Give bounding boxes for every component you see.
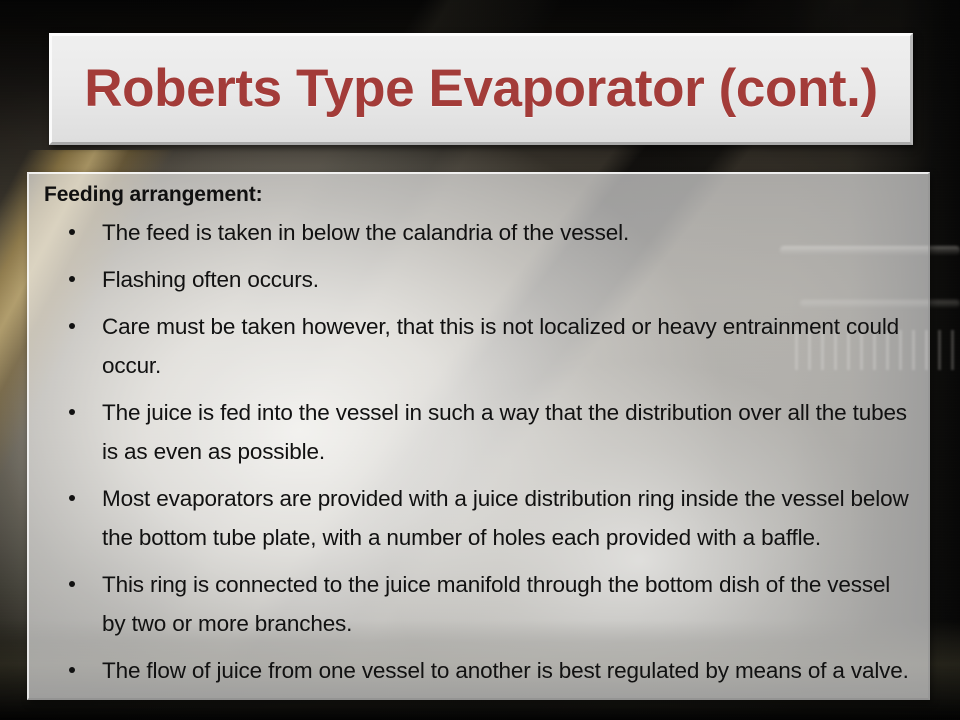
slide-title-box: Roberts Type Evaporator (cont.) bbox=[49, 33, 913, 145]
list-item: The flow of juice from one vessel to ano… bbox=[36, 651, 918, 698]
content-lead-label: Feeding arrangement: bbox=[44, 183, 918, 207]
list-item-text: The feed is taken in below the calandria… bbox=[102, 220, 629, 245]
list-item-text: The flow of juice from one vessel to ano… bbox=[102, 658, 909, 683]
slide-content-box: Feeding arrangement: The feed is taken i… bbox=[27, 172, 930, 700]
presentation-slide: Roberts Type Evaporator (cont.) Feeding … bbox=[0, 0, 960, 720]
list-item-text: Flashing often occurs. bbox=[102, 267, 319, 292]
bullet-icon bbox=[69, 667, 75, 673]
list-item: This ring is connected to the juice mani… bbox=[36, 565, 918, 651]
list-item: The feed is taken in below the calandria… bbox=[36, 213, 918, 260]
list-item: Care must be taken however, that this is… bbox=[36, 307, 918, 393]
list-item-text: Care must be taken however, that this is… bbox=[102, 314, 899, 378]
list-item-text: This ring is connected to the juice mani… bbox=[102, 572, 890, 636]
bullet-list: The feed is taken in below the calandria… bbox=[36, 213, 918, 698]
list-item-text: The juice is fed into the vessel in such… bbox=[102, 400, 907, 464]
slide-title: Roberts Type Evaporator (cont.) bbox=[84, 61, 878, 117]
bullet-icon bbox=[69, 409, 75, 415]
bullet-icon bbox=[69, 229, 75, 235]
list-item: Flashing often occurs. bbox=[36, 260, 918, 307]
list-item: The juice is fed into the vessel in such… bbox=[36, 393, 918, 479]
bullet-icon bbox=[69, 495, 75, 501]
bullet-icon bbox=[69, 581, 75, 587]
bullet-icon bbox=[69, 323, 75, 329]
list-item-text: Most evaporators are provided with a jui… bbox=[102, 486, 909, 550]
bullet-icon bbox=[69, 276, 75, 282]
list-item: Most evaporators are provided with a jui… bbox=[36, 479, 918, 565]
